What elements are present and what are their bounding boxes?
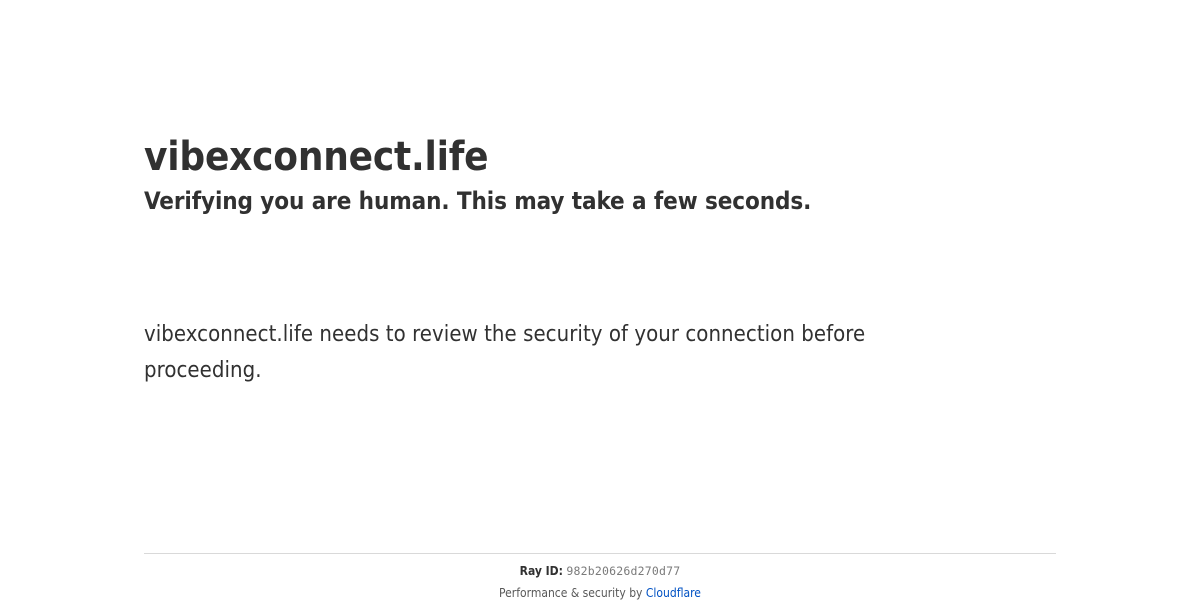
verification-status-message: Verifying you are human. This may take a…	[144, 183, 1056, 216]
attribution-prefix: Performance & security by	[499, 586, 642, 600]
ray-id-label: Ray ID:	[520, 564, 563, 578]
challenge-page: vibexconnect.life Verifying you are huma…	[0, 0, 1200, 600]
challenge-content: vibexconnect.life Verifying you are huma…	[144, 0, 1056, 389]
security-review-explanation: vibexconnect.life needs to review the se…	[144, 317, 944, 389]
ray-id-line: Ray ID: 982b20626d270d77	[144, 563, 1056, 580]
attribution-line: Performance & security by Cloudflare	[144, 585, 1056, 602]
page-footer: Ray ID: 982b20626d270d77 Performance & s…	[144, 553, 1056, 602]
ray-id-value: 982b20626d270d77	[566, 564, 680, 578]
cloudflare-link[interactable]: Cloudflare	[646, 586, 701, 600]
page-title-hostname: vibexconnect.life	[144, 0, 1056, 183]
turnstile-challenge-widget[interactable]	[144, 222, 464, 317]
